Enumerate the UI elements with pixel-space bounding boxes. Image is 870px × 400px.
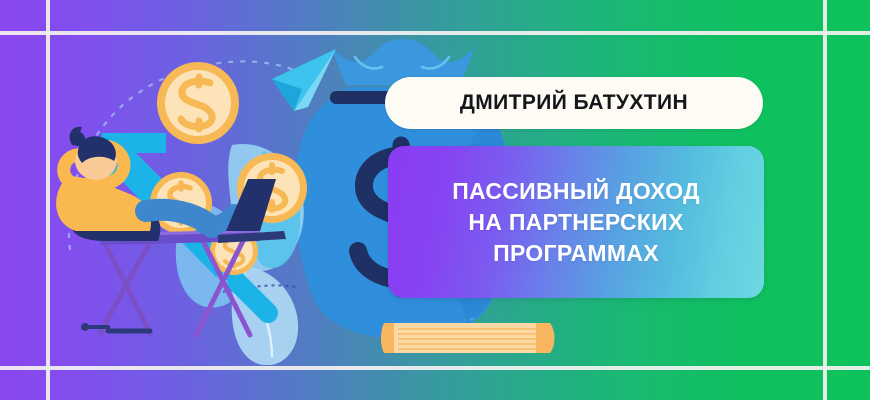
paper-plane-icon [272, 49, 336, 111]
grid-line-horizontal-bottom [0, 366, 870, 370]
title-line-2: НА ПАРТНЕРСКИХ [452, 207, 700, 238]
author-name-text: ДМИТРИЙ БАТУХТИН [460, 91, 688, 115]
grid-line-vertical-right [823, 0, 827, 400]
book-icon [381, 323, 555, 353]
coin-large [157, 62, 239, 144]
title-line-1: ПАССИВНЫЙ ДОХОД [452, 176, 700, 207]
author-name-pill: ДМИТРИЙ БАТУХТИН [385, 77, 763, 129]
banner-canvas: ДМИТРИЙ БАТУХТИН ПАССИВНЫЙ ДОХОД НА ПАРТ… [0, 0, 870, 400]
title-card: ПАССИВНЫЙ ДОХОД НА ПАРТНЕРСКИХ ПРОГРАММА… [388, 146, 764, 298]
grid-line-horizontal-top [0, 31, 870, 35]
title-line-3: ПРОГРАММАХ [452, 238, 700, 269]
title-text: ПАССИВНЫЙ ДОХОД НА ПАРТНЕРСКИХ ПРОГРАММА… [452, 176, 700, 269]
grid-line-vertical-left [46, 0, 50, 400]
